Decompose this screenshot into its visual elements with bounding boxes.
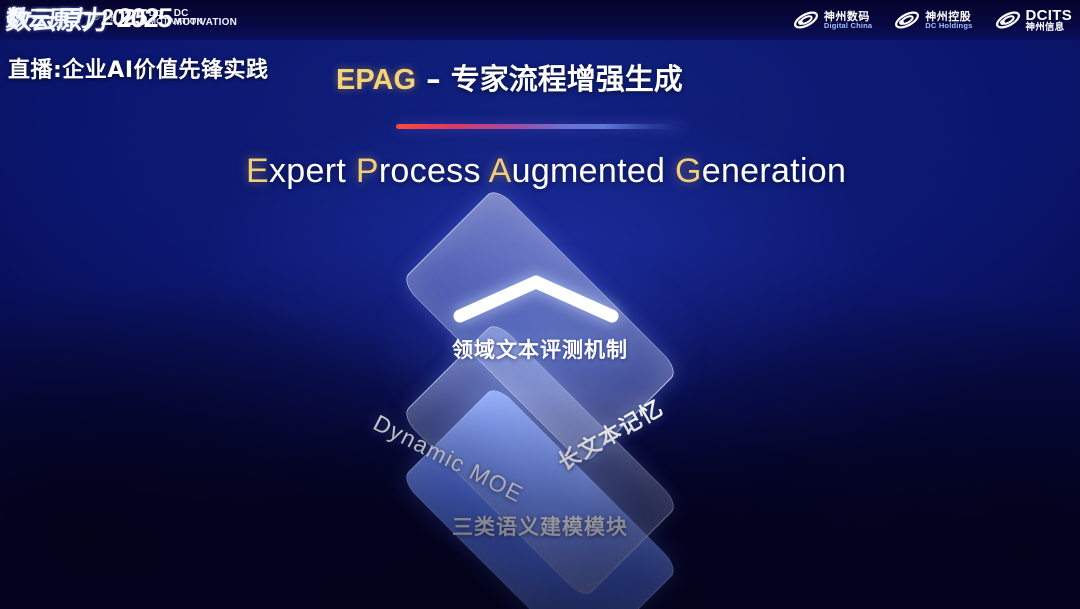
brand-registered-mark: ® — [93, 12, 100, 22]
layer-label-top: 领域文本评测机制 — [0, 334, 1080, 364]
brand-name-cn: 数云原力 — [5, 1, 93, 33]
brand-subtitle: DC MOTIVATION — [149, 10, 203, 25]
footer-brand-logo: 数云原力 ® 2025 DC MOTIVATION — [6, 3, 1074, 31]
layer-label-bottom: 三类语义建模模块 — [0, 511, 1080, 541]
slide-canvas: 数云原力 ® 2025 DC MOTIVATION 神州数码 Digital C… — [0, 0, 1080, 609]
brand-subtitle-line2: MOTIVATION — [149, 18, 203, 25]
brand-year: 2025 — [100, 4, 147, 31]
layered-architecture-diagram: 领域文本评测机制 Dynamic MOE 长文本记忆 三类语义建模模块 — [0, 0, 1080, 609]
chevron-up-icon — [452, 272, 620, 324]
